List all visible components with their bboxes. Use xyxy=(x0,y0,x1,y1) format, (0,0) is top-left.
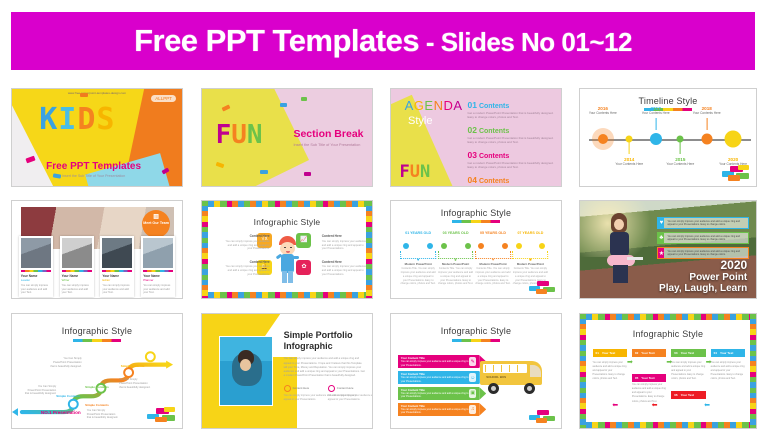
agenda-item-num: 02 xyxy=(468,125,477,135)
timeline-label-above: 2017 Your Contents Here xyxy=(633,106,679,115)
section-break-title: Section Break xyxy=(293,128,363,140)
ribbon-1[interactable]: Your Content Title You can simply impres… xyxy=(398,355,486,368)
slide-caption: Free PPT Templates xyxy=(12,161,175,172)
lego-letter-f: F xyxy=(400,162,410,182)
fun-lego-word: FUN xyxy=(216,120,263,150)
tag-label: Your Text xyxy=(641,351,654,355)
rainbow-divider xyxy=(452,339,500,342)
lego-letter-d: D xyxy=(77,102,96,137)
slide-thumbnail-04[interactable]: Timeline Style 2016 Your Contents Here 2… xyxy=(579,88,757,187)
lego-letter-k: K xyxy=(39,102,58,137)
text-block-3: Content Here You can simply impress your… xyxy=(222,260,269,277)
timeline-dot[interactable] xyxy=(516,243,522,249)
header-title-main: Free PPT Templates xyxy=(134,23,419,58)
member-desc: You can simply impress your audience and… xyxy=(21,284,51,296)
icon-box-4[interactable]: ✿ xyxy=(296,260,311,275)
slide-title: Infographic Style xyxy=(391,326,561,336)
portfolio-text: Simple Portfolio Infographic You can sim… xyxy=(284,330,366,378)
rainbow-bar xyxy=(21,270,51,272)
member-photo xyxy=(21,238,51,268)
timeline-text: Your Contents Here xyxy=(606,162,652,166)
lego-cluster-decor xyxy=(529,279,557,295)
tag-num: 02 xyxy=(635,351,638,355)
slide-thumbnail-11[interactable]: Infographic Style Your Content Title You… xyxy=(390,313,562,429)
team-member-card[interactable]: Your Name Leader You can simply impress … xyxy=(19,236,53,297)
timeline-text: Your Contents Here xyxy=(633,111,679,115)
slide-thumbnail-grid: www.free-powerpoint-templates-design.com… xyxy=(11,88,757,430)
group-block: ✦ Modern PowerPoint Contents Title. You … xyxy=(475,257,511,286)
agenda-item-body: Get a modern PowerPoint Presentation tha… xyxy=(468,111,556,120)
group-block: ❦ Modern PowerPoint Contents Title. You … xyxy=(438,257,474,286)
watermark-url: www.free-powerpoint-templates-design.com xyxy=(68,91,126,95)
ribbon-body: You can simply impress your audience and… xyxy=(401,408,469,415)
flow-tag-4[interactable]: 04 Your Text xyxy=(711,349,745,357)
member-desc: You can simply impress your audience and… xyxy=(102,284,132,296)
member-photo xyxy=(62,238,92,268)
step-note-3: You Can Simply PowerPoint Presentation t… xyxy=(87,409,119,421)
flower-icon: ✿ xyxy=(296,263,311,270)
book-icon: ▣ xyxy=(469,389,476,398)
member-photo xyxy=(102,238,132,268)
lego-brick-decor xyxy=(301,97,307,101)
section-break-subtitle: Insert the Sub Title of Your Presentatio… xyxy=(293,143,363,147)
slide-title: Timeline Style xyxy=(580,96,756,106)
box-label: Content Here xyxy=(222,234,269,238)
item-label: Content Here xyxy=(293,386,310,390)
agenda-item-num: 03 xyxy=(468,150,477,160)
ribbon-body: You can simply impress your audience and… xyxy=(401,360,469,367)
box-body: You can simply impress your audience and… xyxy=(222,240,269,252)
box-label: Content Here xyxy=(222,260,269,264)
box-body: You can simply impress your audience and… xyxy=(322,240,369,252)
group-heading: 01 YEARS OLD xyxy=(405,231,431,235)
ribbon-4[interactable]: Your Content Title You can simply impres… xyxy=(398,403,486,416)
lego-cluster-decor xyxy=(720,163,752,183)
flow-column-3: You can simply impress your audience and… xyxy=(671,361,705,381)
school-bus-illustration: SCHOOL BUS xyxy=(480,357,554,399)
group-heading: 05 YEARS OLD xyxy=(480,231,506,235)
timeline-label-below: 2015 Your Contents Here xyxy=(657,157,703,166)
group-heading: 03 YEARS OLD xyxy=(443,231,469,235)
group-title: Modern PowerPoint xyxy=(400,262,436,266)
step-label-3: Simple Contents xyxy=(85,403,109,407)
lego-letter-n: N xyxy=(247,120,263,150)
content-bar[interactable]: ♥ You can simply impress your audience a… xyxy=(657,217,749,229)
member-role: Editor xyxy=(102,278,132,282)
slide-thumbnail-08[interactable]: ♥ You can simply impress your audience a… xyxy=(579,200,757,299)
lego-brick-decor xyxy=(80,93,88,97)
agenda-letter: D xyxy=(443,98,453,113)
timeline-text: Your Contents Here xyxy=(657,162,703,166)
agenda-item[interactable]: 01 Contents Get a modern PowerPoint Pres… xyxy=(468,100,556,120)
agenda-letter: G xyxy=(414,98,425,113)
group-body: Contents Title. You can simply impress y… xyxy=(475,267,511,286)
timeline-dot[interactable] xyxy=(465,243,471,249)
fun-lego-word: FUN xyxy=(400,162,431,182)
ribbon-text: Your Content Title You can simply impres… xyxy=(401,356,469,367)
lego-letter-n: N xyxy=(420,162,430,182)
footer-line2: Play, Laugh, Learn xyxy=(659,283,747,294)
portfolio-body: You can simply impress your audience and… xyxy=(284,357,366,378)
lego-letter-i: I xyxy=(58,102,77,137)
timeline-node[interactable] xyxy=(701,134,712,145)
agenda-item[interactable]: 02 Contents Get a modern PowerPoint Pres… xyxy=(468,125,556,145)
timeline-dot[interactable] xyxy=(478,243,484,249)
timeline-node[interactable] xyxy=(598,134,608,144)
lego-letter-u: U xyxy=(231,120,247,150)
ribbon-text: Your Content Title You can simply impres… xyxy=(401,372,469,383)
group-body: Contents Title. You can simply impress y… xyxy=(400,267,436,286)
box-body: You can simply impress your audience and… xyxy=(322,265,369,277)
item-label: Content Here xyxy=(337,386,354,390)
rainbow-bar xyxy=(143,270,173,272)
group-body: Contents Title. You can simply impress y… xyxy=(438,267,474,286)
portfolio-title-2: Infographic xyxy=(284,341,366,352)
team-member-card[interactable]: Your Name Writer You can simply impress … xyxy=(60,236,94,297)
lego-letter-s: S xyxy=(96,102,115,137)
icon-box-2[interactable]: 📈 xyxy=(296,233,311,248)
rainbow-bar xyxy=(62,270,92,272)
tag-label: Your Text xyxy=(641,376,654,380)
agenda-item-num: 04 xyxy=(468,175,477,185)
music-note-icon: ♫ xyxy=(469,405,476,414)
agenda-item-body: Get a modern PowerPoint Presentation tha… xyxy=(468,186,556,187)
slide-title: Infographic Style xyxy=(586,329,750,339)
box-label: Content Here xyxy=(322,234,369,238)
slide-title: Infographic Style xyxy=(391,208,561,218)
ribbon-text: Your Content Title You can simply impres… xyxy=(401,388,469,399)
timeline-stem xyxy=(629,142,630,154)
arrow-left-icon: ⬅ xyxy=(612,402,618,409)
lego-cluster-decor xyxy=(529,408,557,425)
step-label-1: Simple Contents xyxy=(56,394,80,398)
agenda-item-num: 01 xyxy=(468,100,477,110)
agenda-item-heading: 01 Contents xyxy=(468,100,556,110)
bus-label: SCHOOL BUS xyxy=(486,375,506,379)
arrow-left-icon: ⬅ xyxy=(704,402,710,409)
box-body: You can simply impress your audience and… xyxy=(222,265,269,277)
timeline-label-above: 2016 Your Contents Here xyxy=(580,106,626,115)
header-title-sub: - Slides No 01~12 xyxy=(419,27,632,57)
agenda-item-label: Contents xyxy=(479,178,509,185)
slide-thumbnail-03[interactable]: AGENDA Style FUN 01 Contents Get a moder… xyxy=(390,88,562,187)
content-bar[interactable]: ♣ You can simply impress your audience a… xyxy=(657,232,749,244)
timeline-label-below: 2014 Your Contents Here xyxy=(606,157,652,166)
slide-thumbnail-05[interactable]: ▥ Meet Our Team Your Name Leader You can… xyxy=(11,200,183,299)
footer-line1: Power Point xyxy=(659,272,747,283)
group-title: Modern PowerPoint xyxy=(513,262,549,266)
step-label-2: Simple Contents xyxy=(85,385,109,389)
agenda-letter: E xyxy=(424,98,433,113)
ribbon-body: You can simply impress your audience and… xyxy=(401,392,469,399)
flow-tag-2[interactable]: 02 Your Text xyxy=(632,349,666,357)
lego-letter-u: U xyxy=(410,162,420,182)
slide-thumbnail-06[interactable]: Infographic Style √x Content Here Y xyxy=(201,200,373,299)
ribbon-2[interactable]: Your Content Title You can simply impres… xyxy=(398,371,486,384)
slide-thumbnail-02[interactable]: FUN Section Break Insert the Sub Title o… xyxy=(201,88,373,187)
tag-label: Your Text xyxy=(602,351,615,355)
agenda-letter: A xyxy=(405,98,414,113)
flow-tag-6[interactable]: 06 Your Text xyxy=(671,391,705,399)
kids-lego-word: KIDS xyxy=(39,102,115,137)
agenda-title: AGENDA xyxy=(405,98,463,113)
slide-subcaption: Insert the Sub Title of Your Presentatio… xyxy=(12,174,175,178)
ribbon-body: You can simply impress your audience and… xyxy=(401,376,469,383)
tag-num: 05 xyxy=(635,376,638,380)
agenda-letter: N xyxy=(434,98,444,113)
tag-num: 04 xyxy=(714,351,717,355)
girl-guitar-photo xyxy=(601,213,639,283)
portfolio-title-1: Simple Portfolio xyxy=(284,330,366,341)
lego-border-right xyxy=(750,314,756,428)
timeline-dot[interactable] xyxy=(502,243,508,249)
member-role: Planner xyxy=(143,278,173,282)
lego-border-bottom xyxy=(202,292,372,298)
timeline-stem xyxy=(680,142,681,154)
circle-icon xyxy=(328,385,335,392)
member-role: Writer xyxy=(62,278,92,282)
flow-tag-3[interactable]: 03 Your Text xyxy=(671,349,705,357)
meet-our-team-badge[interactable]: ▥ Meet Our Team xyxy=(142,210,170,238)
timeline-text: Your Contents Here xyxy=(684,111,730,115)
portfolio-item-2[interactable]: Content Here You can simply impress your… xyxy=(328,385,373,402)
team-member-card[interactable]: Your Name Editor You can simply impress … xyxy=(100,236,134,297)
tag-label: Your Text xyxy=(720,351,733,355)
group-block: ♥ Modern PowerPoint Contents Title. You … xyxy=(400,257,436,286)
lego-brick-decor xyxy=(260,170,268,174)
lego-brick-decor xyxy=(280,103,287,107)
timeline-dot[interactable] xyxy=(427,243,433,249)
portfolio-photo xyxy=(219,336,273,407)
timeline-stem xyxy=(706,118,707,130)
timeline-node[interactable] xyxy=(725,131,742,148)
flow-column-2: You can simply impress your audience and… xyxy=(632,383,666,403)
timeline-stem xyxy=(655,118,656,130)
pencil-icon: ✎ xyxy=(469,357,476,366)
chart-icon: ▥ xyxy=(142,214,170,222)
text-block-2: Content Here You can simply impress your… xyxy=(322,234,369,251)
step-note-4: You Can Simply PowerPoint Presentation t… xyxy=(119,378,151,390)
bar-body: You can simply impress your audience and… xyxy=(664,235,748,243)
lego-letter-f: F xyxy=(216,120,232,150)
item-body: You can simply impress your audience and… xyxy=(328,394,373,402)
lego-cluster-decor xyxy=(147,406,177,424)
timeline-dot[interactable] xyxy=(539,243,545,249)
step-note-2: You Can Simply PowerPoint Presentation t… xyxy=(49,357,81,369)
content-bars: ♥ You can simply impress your audience a… xyxy=(657,217,749,262)
tag-num: 01 xyxy=(596,351,599,355)
slide-thumbnail-10[interactable]: Simple Portfolio Infographic You can sim… xyxy=(201,313,373,429)
dot-timeline-axis xyxy=(398,246,554,247)
tag-label: Your Text xyxy=(681,351,694,355)
circle-icon xyxy=(284,385,291,392)
chart-up-icon: 📈 xyxy=(296,236,311,243)
slide-footer-text: 2020 Power Point Play, Laugh, Learn xyxy=(659,258,747,294)
slide-thumbnail-01[interactable]: www.free-powerpoint-templates-design.com… xyxy=(11,88,183,187)
agenda-item-label: Contents xyxy=(479,153,509,160)
slide-inner: Infographic Style 01 Your Text 02 Your T… xyxy=(586,320,750,422)
slide-thumbnail-09[interactable]: Infographic Style Simple Contents You Ca… xyxy=(11,313,183,429)
header-title: Free PPT Templates - Slides No 01~12 xyxy=(134,23,632,59)
arrow-right-icon: ➡ xyxy=(627,359,633,366)
timeline-label-above: 2018 Your Contents Here xyxy=(684,106,730,115)
box-label: Content Here xyxy=(322,260,369,264)
agenda-subtitle: Style xyxy=(408,115,432,127)
agenda-item-label: Contents xyxy=(479,103,509,110)
flow-tag-1[interactable]: 01 Your Text xyxy=(593,349,627,357)
agenda-item-heading: 03 Contents xyxy=(468,150,556,160)
agenda-item-label: Contents xyxy=(479,128,509,135)
flow-column-1: You can simply impress your audience and… xyxy=(593,361,627,381)
timeline-dot[interactable] xyxy=(441,243,447,249)
member-desc: You can simply impress your audience and… xyxy=(62,284,92,296)
agenda-item-body: Get a modern PowerPoint Presentation tha… xyxy=(468,161,556,170)
ribbon-3[interactable]: Your Content Title You can simply impres… xyxy=(398,387,486,400)
tag-label: Your Text xyxy=(681,393,694,397)
rainbow-bar xyxy=(102,270,132,272)
item-header: Content Here xyxy=(328,385,373,392)
member-role: Leader xyxy=(21,278,51,282)
slide-inner: Infographic Style √x Content Here Y xyxy=(208,207,366,292)
timeline-text: Your Contents Here xyxy=(580,111,626,115)
footer-year: 2020 xyxy=(659,258,747,272)
member-photo xyxy=(143,238,173,268)
agenda-letter: A xyxy=(453,98,462,113)
slide-title: Infographic Style xyxy=(208,217,366,227)
agenda-contents-list: 01 Contents Get a modern PowerPoint Pres… xyxy=(468,100,556,187)
agenda-item-heading: 04 Contents xyxy=(468,175,556,185)
rainbow-divider xyxy=(452,220,500,223)
agenda-item-heading: 02 Contents xyxy=(468,125,556,135)
member-desc: You can simply impress your audience and… xyxy=(143,284,173,296)
lego-brick-decor xyxy=(304,172,311,176)
flow-column-4: You can simply impress your audience and… xyxy=(711,361,745,381)
bar-body: You can simply impress your audience and… xyxy=(664,220,748,228)
step-label-4: Simple Contents xyxy=(121,364,145,368)
slide-thumbnail-07[interactable]: Infographic Style 01 YEARS OLD ♥ Modern … xyxy=(390,200,562,299)
smiley-icon: ☺ xyxy=(469,373,476,382)
agenda-item-body: Get a modern PowerPoint Presentation tha… xyxy=(468,136,556,145)
text-block-4: Content Here You can simply impress your… xyxy=(322,260,369,277)
text-block-1: Content Here You can simply impress your… xyxy=(222,234,269,251)
lego-border-bottom xyxy=(580,422,756,428)
slide-thumbnail-12[interactable]: Infographic Style 01 Your Text 02 Your T… xyxy=(579,313,757,429)
group-title: Modern PowerPoint xyxy=(438,262,474,266)
group-title: Modern PowerPoint xyxy=(475,262,511,266)
no1-presentation-label: NO.1 Presentation xyxy=(41,410,81,415)
group-heading: 07 YEARS OLD xyxy=(517,231,543,235)
allppt-logo-badge: ALLPPT xyxy=(150,94,177,103)
step-note-1: You Can Simply PowerPoint Presentation t… xyxy=(24,385,56,397)
ribbon-text: Your Content Title You can simply impres… xyxy=(401,404,469,415)
page-header-banner: Free PPT Templates - Slides No 01~12 xyxy=(11,12,755,70)
agenda-item[interactable]: 04 Contents Get a modern PowerPoint Pres… xyxy=(468,175,556,187)
bar-body: You can simply impress your audience and… xyxy=(664,250,748,258)
timeline-dot[interactable] xyxy=(403,243,409,249)
section-break-text: Section Break Insert the Sub Title of Yo… xyxy=(293,128,363,147)
timeline-node[interactable] xyxy=(650,133,662,145)
flow-tag-5[interactable]: 05 Your Text xyxy=(632,374,666,382)
team-member-card[interactable]: Your Name Planner You can simply impress… xyxy=(141,236,175,297)
agenda-item[interactable]: 03 Contents Get a modern PowerPoint Pres… xyxy=(468,150,556,170)
tag-num: 06 xyxy=(674,393,677,397)
tag-num: 03 xyxy=(674,351,677,355)
